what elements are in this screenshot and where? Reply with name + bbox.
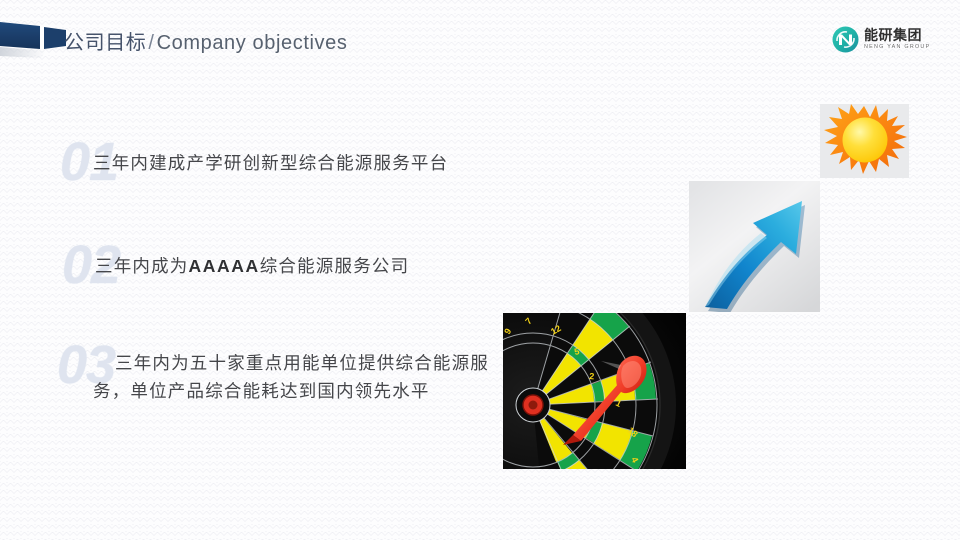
svg-text:2: 2: [589, 371, 595, 381]
growth-arrow-image: [689, 181, 820, 312]
objective-text-2-emphasis: AAAAA: [189, 256, 260, 276]
page-title: 公司目标/Company objectives: [64, 26, 347, 55]
page-title-separator: /: [146, 32, 156, 54]
page-title-cn: 公司目标: [64, 32, 146, 54]
slide-canvas: 公司目标/Company objectives 能研集团 NENG: [0, 0, 960, 540]
objective-item-2: 02 三年内成为AAAAA综合能源服务公司: [62, 236, 582, 306]
dartboard-bullseye-image: 9 7 12 5 2 1 18 4: [503, 313, 686, 469]
company-logo: 能研集团 NENG YAN GROUP: [832, 22, 944, 56]
objective-item-3: 03 三年内为五十家重点用能单位提供综合能源服务，单位产品综合能耗达到国内领先水…: [57, 336, 527, 456]
logo-name-en: NENG YAN GROUP: [864, 45, 930, 50]
objective-text-2-before: 三年内成为: [95, 256, 189, 276]
nengyan-circle-logo-icon: [832, 26, 859, 53]
logo-name-cn: 能研集团: [864, 28, 930, 43]
page-title-en: Company objectives: [157, 32, 348, 54]
objective-text-2-after: 综合能源服务公司: [260, 256, 410, 276]
objective-text-3: 三年内为五十家重点用能单位提供综合能源服务，单位产品综合能耗达到国内领先水平: [93, 349, 513, 406]
objective-text-2: 三年内成为AAAAA综合能源服务公司: [95, 252, 575, 280]
logo-wordmark: 能研集团 NENG YAN GROUP: [864, 28, 930, 50]
header-accent-arrow-icon: [0, 0, 70, 62]
objective-item-1: 01 三年内建成产学研创新型综合能源服务平台: [60, 133, 580, 203]
sun-illustration-image: [820, 104, 909, 178]
objective-text-1: 三年内建成产学研创新型综合能源服务平台: [93, 149, 573, 177]
